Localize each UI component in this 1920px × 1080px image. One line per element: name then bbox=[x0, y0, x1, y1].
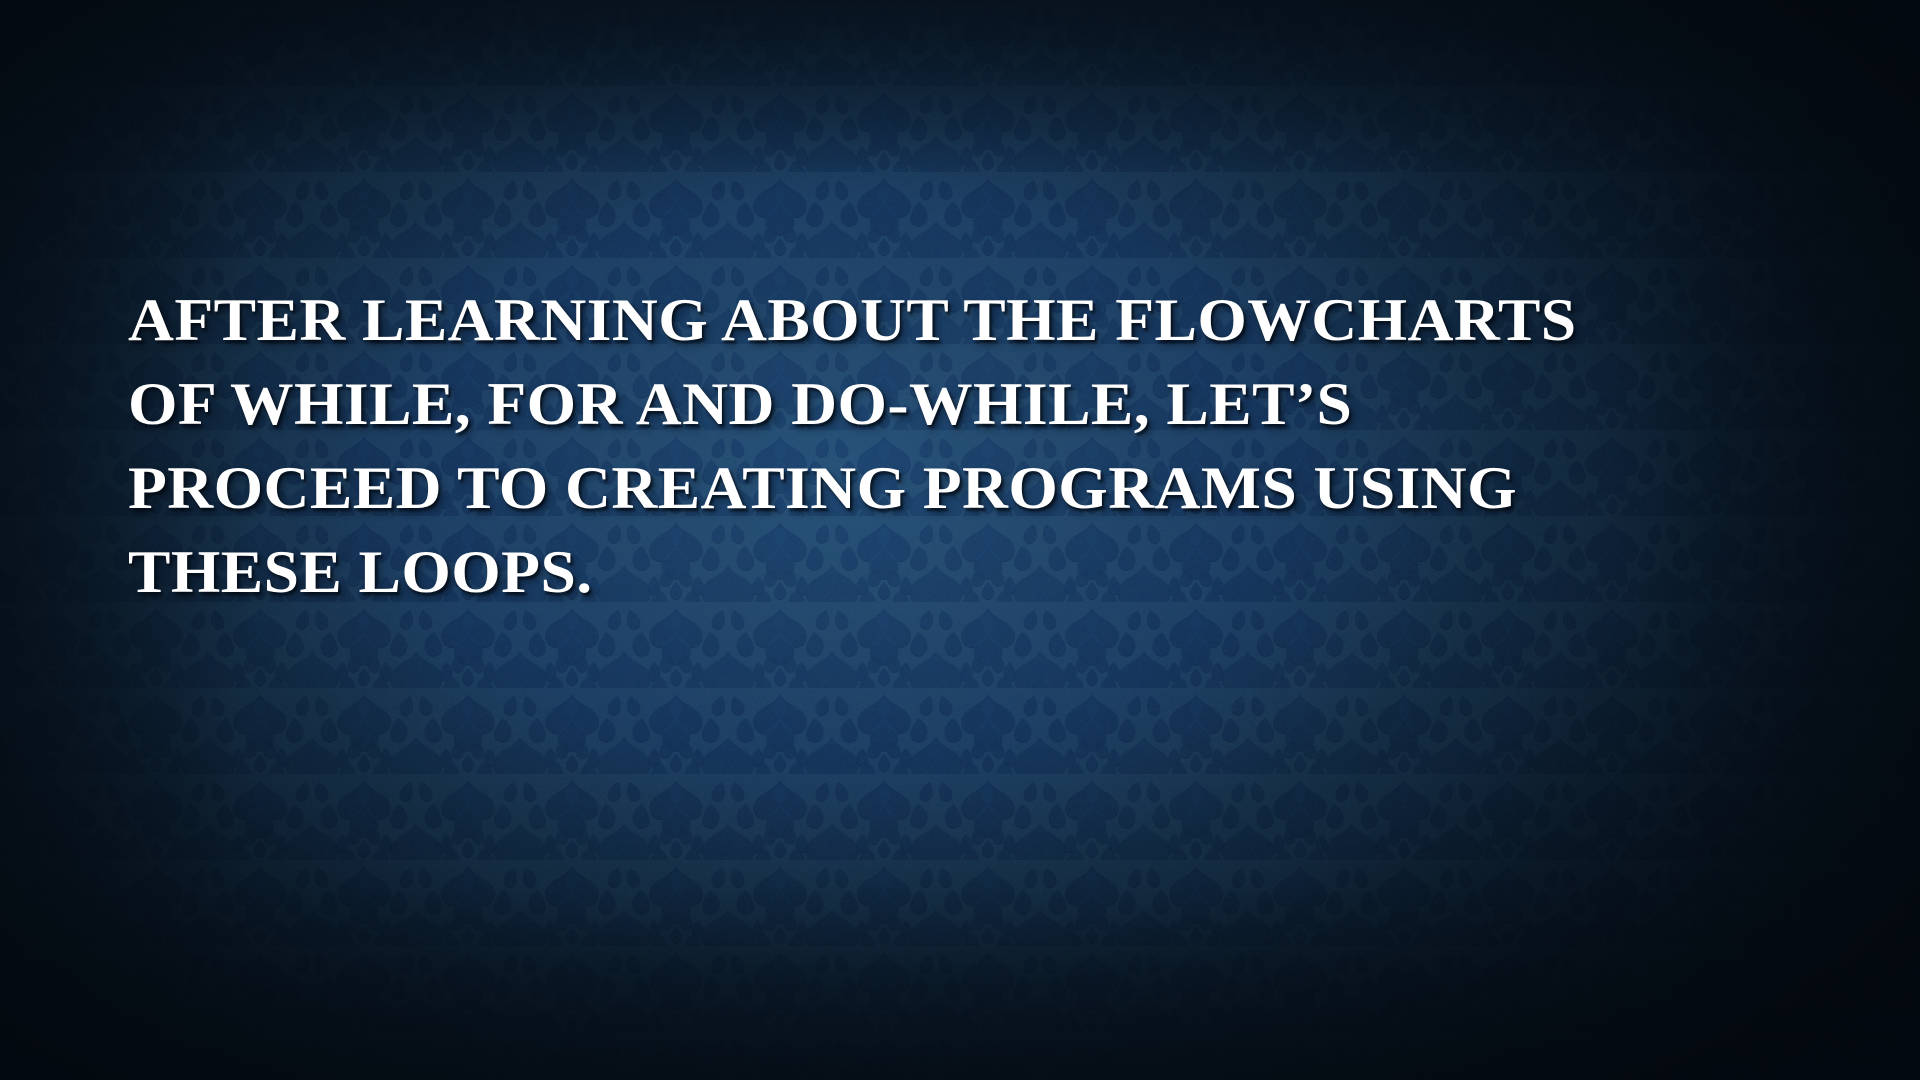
slide-body-line-1: AFTER LEARNING ABOUT THE FLOWCHARTS bbox=[128, 278, 1485, 362]
slide-canvas: AFTER LEARNING ABOUT THE FLOWCHARTS OF W… bbox=[0, 0, 1920, 1080]
slide-body-line-3: PROCEED TO CREATING PROGRAMS USING bbox=[128, 446, 1485, 530]
slide-body-textbox[interactable]: AFTER LEARNING ABOUT THE FLOWCHARTS OF W… bbox=[128, 278, 1408, 614]
slide-body-line-2: OF WHILE, FOR AND DO-WHILE, LET’S bbox=[128, 362, 1485, 446]
slide-body-line-4: THESE LOOPS. bbox=[128, 530, 1485, 614]
